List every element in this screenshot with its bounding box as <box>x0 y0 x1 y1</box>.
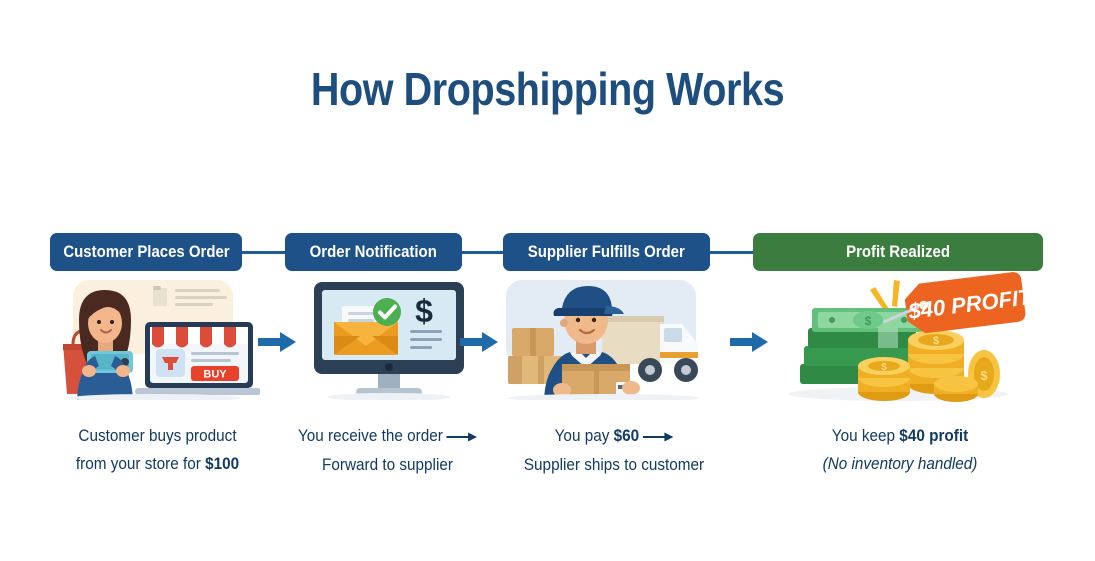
step-header-bar-row: Customer Places Order Order Notification… <box>0 233 1095 271</box>
step-caption-1-line2-text: from your store for <box>76 454 205 473</box>
caption-arrow-icon-3 <box>643 423 674 451</box>
step-header-3[interactable]: Supplier Fulfills Order <box>503 233 710 271</box>
step-caption-1-line2: from your store for $100 <box>47 450 268 478</box>
step-header-1-label: Customer Places Order <box>63 242 229 262</box>
step-caption-4-line1-suffix: profit <box>925 426 968 445</box>
step-caption-1-amount: $100 <box>205 454 239 473</box>
step-caption-1-line1: Customer buys product <box>47 422 268 450</box>
step-caption-3-line2: Supplier ships to customer <box>511 451 716 479</box>
profit-money-illustration: $ $ <box>778 272 1028 402</box>
step-caption-4-amount: $40 <box>899 426 925 445</box>
connector-line-2-3 <box>459 251 506 254</box>
step-caption-4-line1-text: You keep <box>832 426 900 445</box>
connector-line-3-4 <box>707 251 756 254</box>
step-caption-3-amount: $60 <box>614 426 640 445</box>
step-header-3-label: Supplier Fulfills Order <box>528 242 685 262</box>
caption-arrow-icon-2 <box>446 423 477 451</box>
step-header-4[interactable]: Profit Realized <box>753 233 1043 271</box>
step-caption-3: You pay $60 Supplier ships to customer <box>511 422 716 479</box>
customer-shopping-illustration: BUY <box>55 278 260 400</box>
svg-text:$: $ <box>881 362 887 373</box>
step-caption-2: You receive the order Forward to supplie… <box>286 422 489 479</box>
svg-text:$: $ <box>980 368 988 383</box>
step-caption-2-line2: Forward to supplier <box>286 451 489 479</box>
step-header-1[interactable]: Customer Places Order <box>50 233 242 271</box>
supplier-fulfillment-svg <box>500 278 715 400</box>
step-caption-4-line1: You keep $40 profit <box>797 422 1004 450</box>
check-circle-icon <box>373 298 401 326</box>
flow-arrow-2-3 <box>460 330 498 354</box>
step-caption-3-line1-text: You pay <box>555 426 614 445</box>
buy-button-label: BUY <box>203 369 227 381</box>
step-caption-4-line2: (No inventory handled) <box>797 450 1004 478</box>
step-header-2[interactable]: Order Notification <box>285 233 462 271</box>
step-caption-3-line1: You pay $60 <box>511 422 716 451</box>
svg-text:$: $ <box>933 335 939 347</box>
step-header-4-label: Profit Realized <box>846 242 950 262</box>
svg-text:$: $ <box>865 314 872 328</box>
supplier-fulfillment-illustration <box>500 278 715 400</box>
step-caption-1: Customer buys product from your store fo… <box>47 422 268 478</box>
page-title: How Dropshipping Works <box>77 62 1019 116</box>
step-caption-2-line1: You receive the order <box>286 422 489 451</box>
step-caption-4: You keep $40 profit (No inventory handle… <box>797 422 1004 478</box>
profit-money-svg: $ $ <box>778 272 1028 402</box>
dollar-sign-icon: $ <box>415 293 433 329</box>
step-caption-2-line1-text: You receive the order <box>298 426 443 445</box>
customer-shopping-svg: BUY <box>55 278 260 400</box>
step-header-2-label: Order Notification <box>310 242 437 262</box>
flow-arrow-3-4 <box>730 330 768 354</box>
connector-line-1-2 <box>240 251 288 254</box>
flow-arrow-1-2 <box>258 330 296 354</box>
customer-avatar <box>77 290 133 400</box>
